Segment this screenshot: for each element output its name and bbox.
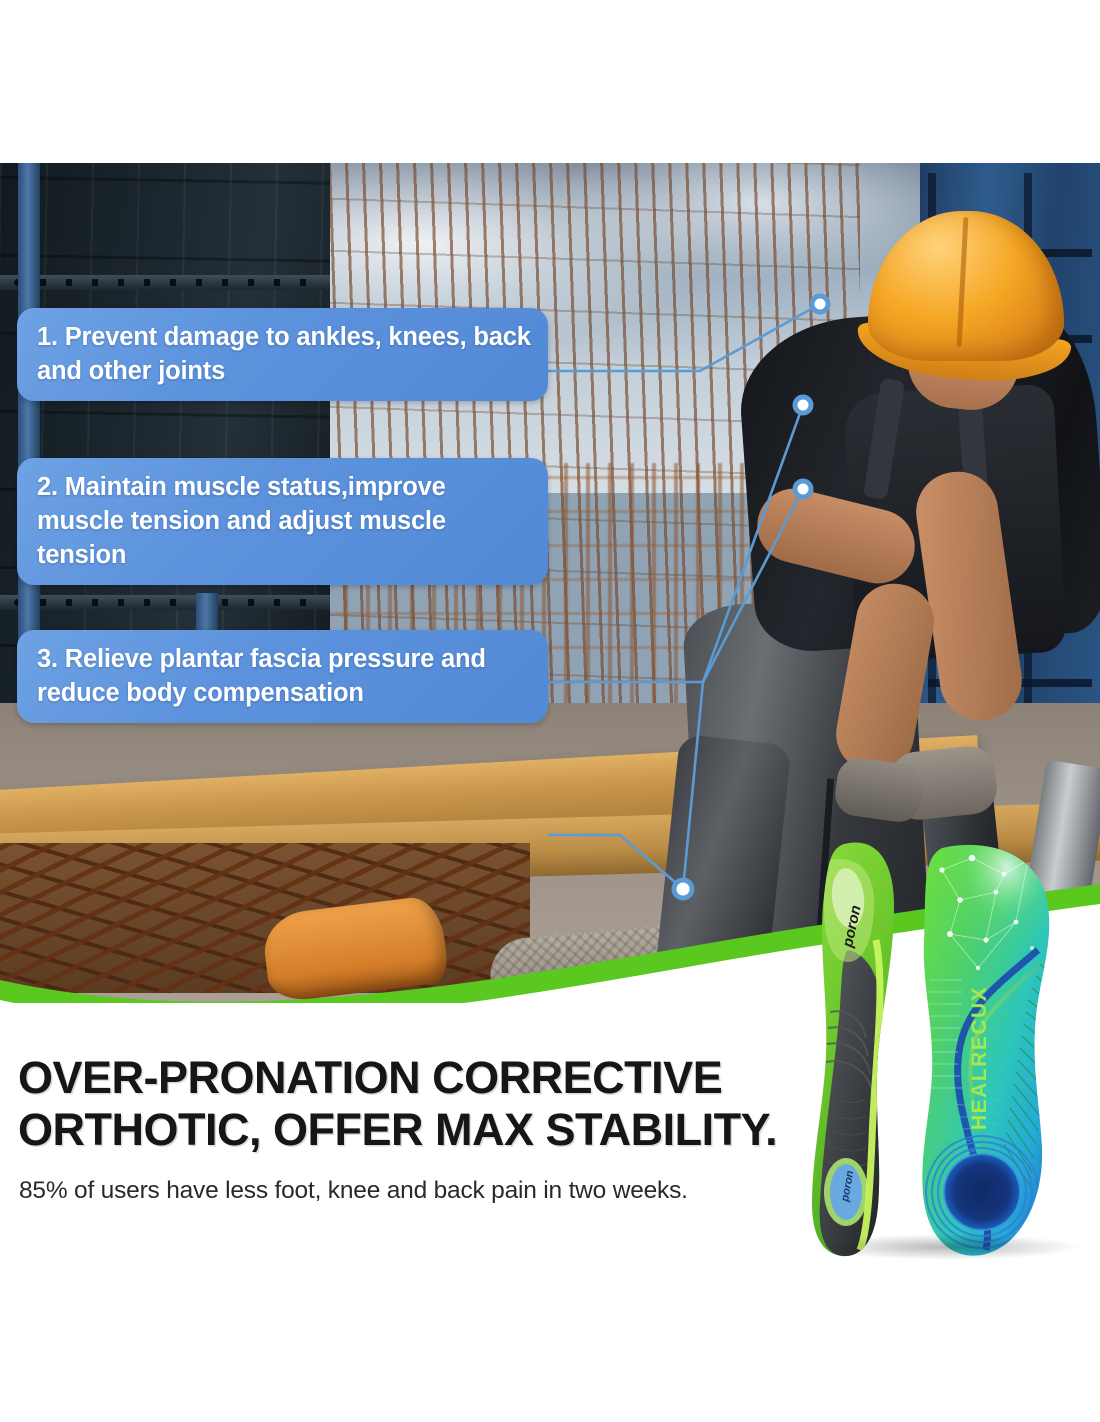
connector-line-2a [548, 405, 803, 682]
connector-dot-shoulder [812, 296, 828, 312]
insole-graphics: poron poron [790, 830, 1100, 1270]
page-subheadline: 85% of users have less foot, knee and ba… [19, 1177, 819, 1205]
insole-shadow [812, 1234, 1082, 1260]
connector-dot-hip [795, 397, 811, 413]
insole-right-top-view: HEALRECUX [920, 836, 1060, 1256]
page-headline: OVER-PRONATION CORRECTIVE ORTHOTIC, OFFE… [18, 1052, 838, 1156]
connector-dot-ankle [674, 880, 692, 898]
insole-left-side-view: poron poron [812, 842, 894, 1256]
connector-dot-thigh [795, 481, 811, 497]
connector-line-2c [683, 682, 703, 889]
connector-line-2b [703, 489, 803, 682]
callout-box-1[interactable]: 1. Prevent damage to ankles, knees, back… [17, 308, 548, 401]
callout-box-3[interactable]: 3. Relieve plantar fascia pressure and r… [17, 630, 548, 723]
connector-line-3 [548, 835, 683, 889]
callout-box-2[interactable]: 2. Maintain muscle status,improve muscle… [17, 458, 548, 585]
healrecux-brand-text: HEALRECUX [968, 986, 991, 1130]
connector-line-1 [548, 304, 820, 371]
product-insoles: poron poron [790, 830, 1100, 1270]
